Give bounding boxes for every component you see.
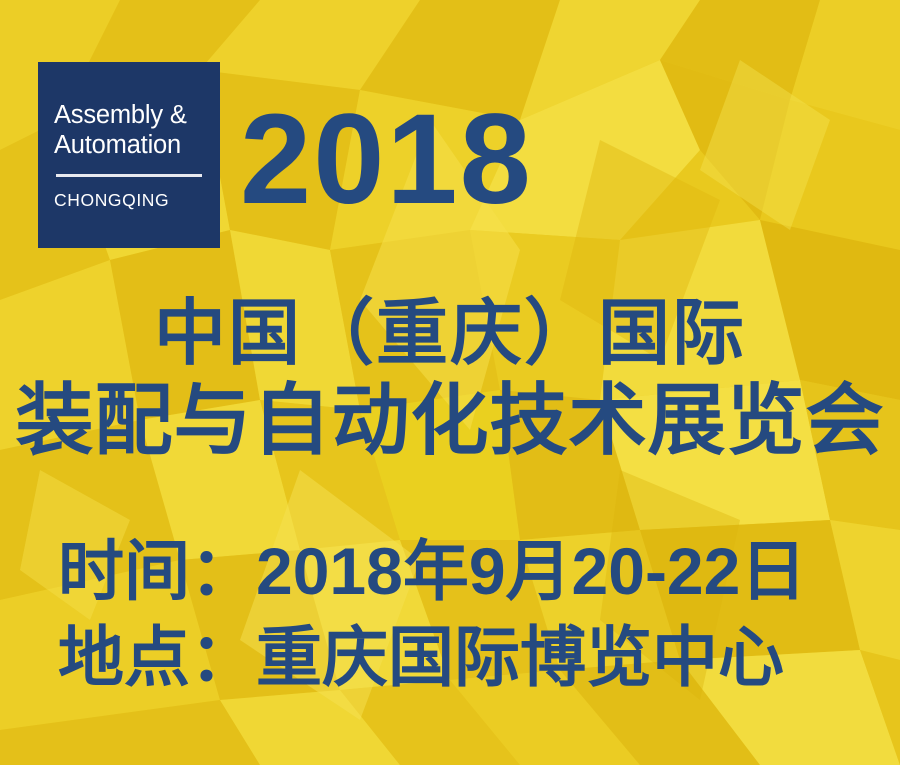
event-logo: Assembly & Automation CHONGQING xyxy=(38,62,220,248)
event-date-separator: ： xyxy=(190,534,256,608)
poster-content: Assembly & Automation CHONGQING 2018 中国（… xyxy=(0,0,900,765)
event-venue-separator: ： xyxy=(190,620,256,694)
event-year: 2018 xyxy=(240,96,533,224)
event-venue-line: 地点：重庆国际博览中心 xyxy=(58,614,806,700)
logo-title-line-2: Automation xyxy=(54,130,204,160)
event-date-value: 2018年9月20-22日 xyxy=(256,534,806,608)
exhibition-poster: Assembly & Automation CHONGQING 2018 中国（… xyxy=(0,0,900,765)
event-headline: 中国（重庆）国际 装配与自动化技术展览会 xyxy=(0,292,900,464)
headline-line-1: 中国（重庆）国际 xyxy=(0,292,900,376)
event-venue-label: 地点 xyxy=(58,620,190,694)
logo-title-line-1: Assembly & xyxy=(54,100,204,130)
logo-city-label: CHONGQING xyxy=(54,190,204,211)
headline-line-2: 装配与自动化技术展览会 xyxy=(0,376,900,464)
event-venue-value: 重庆国际博览中心 xyxy=(256,620,784,694)
logo-divider xyxy=(56,174,202,177)
event-date-label: 时间 xyxy=(58,534,190,608)
event-details: 时间：2018年9月20-22日 地点：重庆国际博览中心 xyxy=(58,528,806,700)
event-date-line: 时间：2018年9月20-22日 xyxy=(58,528,806,614)
